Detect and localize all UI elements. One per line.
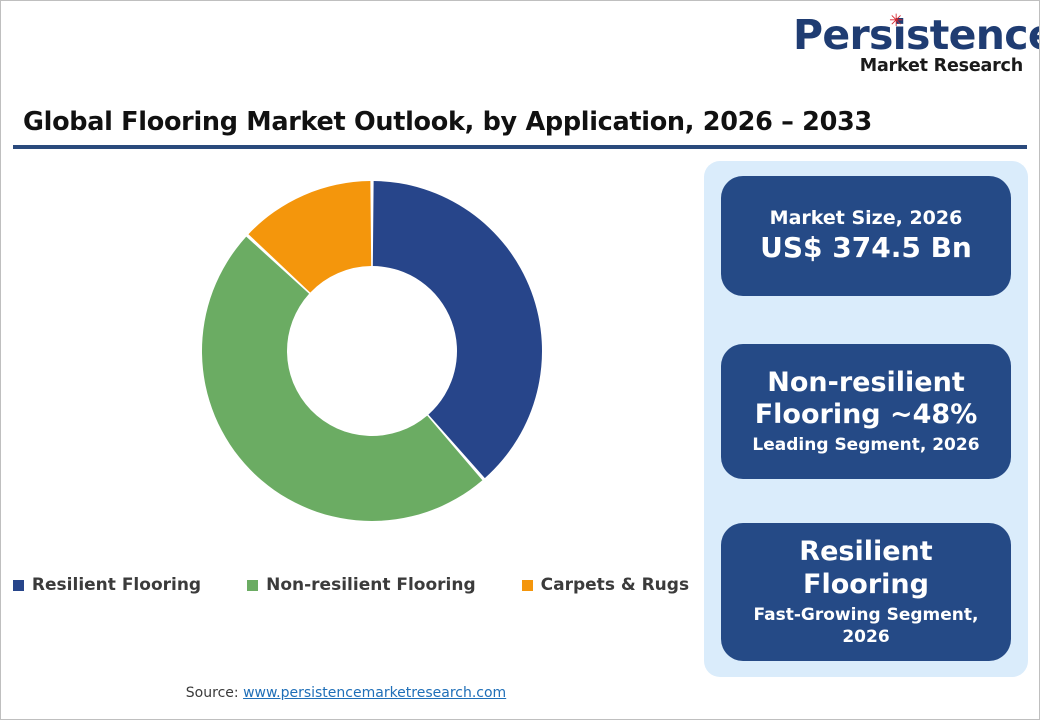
legend-swatch-non-resilient-flooring	[247, 580, 258, 591]
kpi-panel: Market Size, 2026 US$ 374.5 Bn Non-resil…	[704, 161, 1028, 677]
legend-swatch-carpets-and-rugs	[522, 580, 533, 591]
kpi-market-size-value: US$ 374.5 Bn	[760, 230, 972, 265]
asterisk-icon: ✳	[889, 13, 903, 30]
kpi-card-market-size: Market Size, 2026 US$ 374.5 Bn	[721, 176, 1011, 296]
brand-name: Persistence ✳	[793, 15, 1040, 56]
legend-swatch-resilient-flooring	[13, 580, 24, 591]
kpi-card-fast-growing-segment: Resilient Flooring Fast-Growing Segment,…	[721, 523, 1011, 661]
legend-item-non-resilient-flooring: Non-resilient Flooring	[247, 575, 476, 595]
brand-logo: Persistence ✳ Market Research	[793, 15, 1023, 76]
kpi-fast-growing-segment-line1: Resilient Flooring	[733, 536, 999, 602]
legend-item-resilient-flooring: Resilient Flooring	[13, 575, 201, 595]
source-link[interactable]: www.persistencemarketresearch.com	[243, 685, 506, 701]
infographic-page: Persistence ✳ Market Research Global Flo…	[0, 0, 1040, 720]
donut-slices	[202, 181, 542, 521]
chart-legend: Resilient Flooring Non-resilient Floorin…	[11, 575, 691, 595]
donut-chart	[11, 159, 691, 559]
kpi-leading-segment-line1: Non-resilient	[767, 367, 964, 400]
source-prefix: Source:	[186, 685, 243, 701]
kpi-leading-segment-line2: Flooring ~48%	[755, 399, 978, 432]
kpi-fast-growing-segment-caption: Fast-Growing Segment, 2026	[733, 604, 999, 648]
legend-label-non-resilient-flooring: Non-resilient Flooring	[266, 575, 476, 595]
legend-label-carpets-and-rugs: Carpets & Rugs	[541, 575, 689, 595]
page-title: Global Flooring Market Outlook, by Appli…	[23, 107, 872, 137]
donut-chart-svg	[11, 159, 691, 559]
legend-item-carpets-and-rugs: Carpets & Rugs	[522, 575, 689, 595]
kpi-card-leading-segment: Non-resilient Flooring ~48% Leading Segm…	[721, 344, 1011, 479]
legend-label-resilient-flooring: Resilient Flooring	[32, 575, 201, 595]
source-line: Source: www.persistencemarketresearch.co…	[1, 685, 691, 701]
kpi-market-size-caption: Market Size, 2026	[770, 207, 963, 231]
title-divider	[13, 145, 1027, 149]
brand-name-text: Persistence	[793, 11, 1040, 59]
brand-tagline: Market Research	[793, 58, 1023, 76]
kpi-leading-segment-caption: Leading Segment, 2026	[752, 434, 979, 456]
